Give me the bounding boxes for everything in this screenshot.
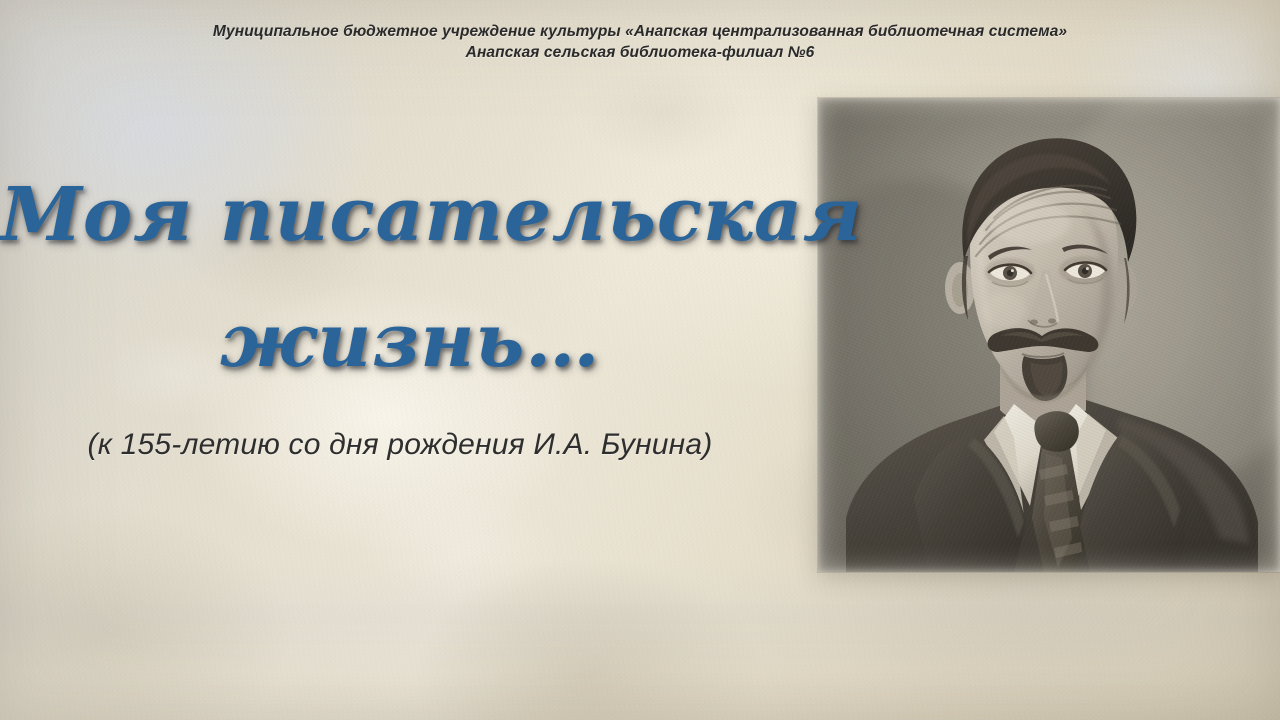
main-title-line-1: Моя писательская bbox=[0, 178, 820, 252]
institution-name-line-1: Муниципальное бюджетное учреждение культ… bbox=[0, 22, 1280, 43]
subtitle-anniversary: (к 155-летию со дня рождения И.А. Бунина… bbox=[0, 428, 800, 462]
portrait-illustration bbox=[818, 98, 1280, 572]
slide-canvas: Муниципальное бюджетное учреждение культ… bbox=[0, 0, 1280, 720]
main-title: Моя писательская жизнь… bbox=[0, 178, 820, 378]
institution-header: Муниципальное бюджетное учреждение культ… bbox=[0, 22, 1280, 64]
institution-name-line-2: Анапская сельская библиотека-филиал №6 bbox=[0, 43, 1280, 64]
portrait-photo-bunin bbox=[818, 98, 1280, 572]
main-title-line-2: жизнь… bbox=[0, 304, 820, 378]
